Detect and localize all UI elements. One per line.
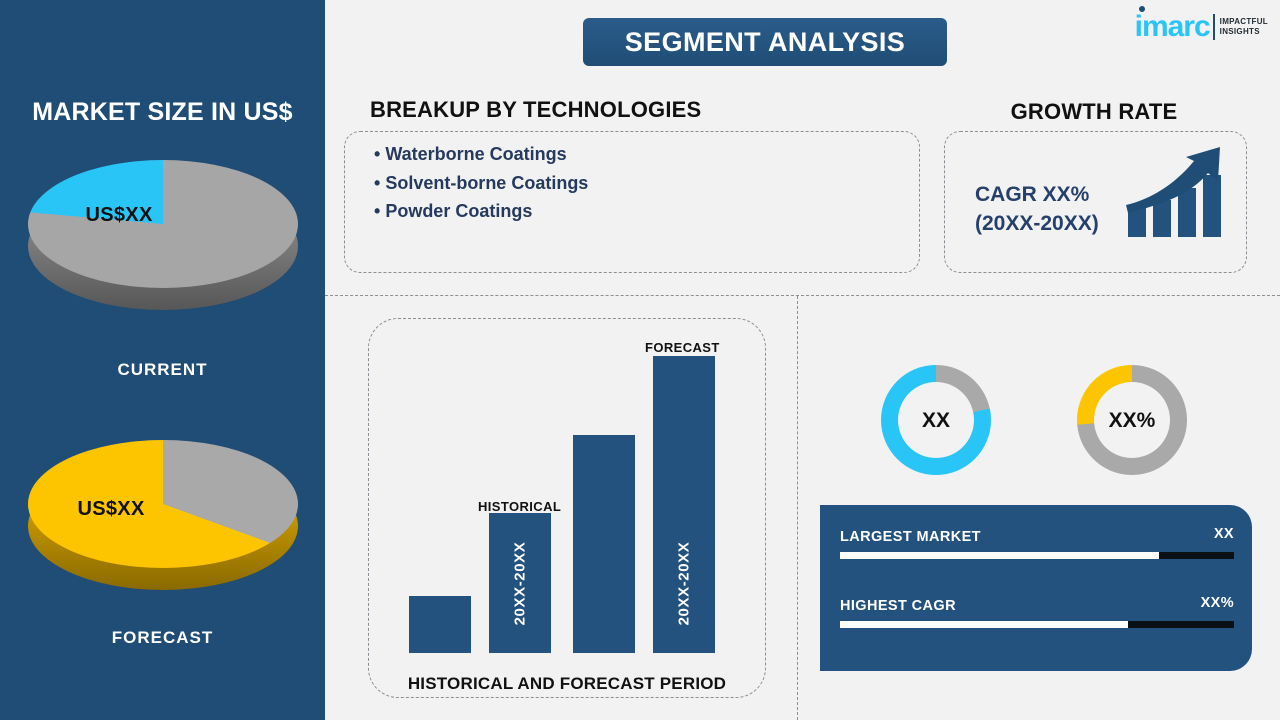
metric-track — [840, 621, 1234, 628]
sidebar-title: MARKET SIZE IN US$ — [0, 98, 325, 127]
logo-text: imarc — [1135, 12, 1210, 42]
donut-chart-2-label: XX% — [1077, 409, 1187, 433]
growth-rate-heading: GROWTH RATE — [944, 99, 1244, 125]
bullet-icon: • — [374, 173, 380, 193]
historical-annotation: HISTORICAL — [478, 499, 561, 514]
logo-tagline: IMPACTFUL INSIGHTS — [1220, 17, 1268, 37]
forecast-pie-caption: FORECAST — [0, 628, 325, 648]
metric-track — [840, 552, 1234, 559]
page-title-banner: SEGMENT ANALYSIS — [583, 18, 947, 66]
bar-4-inner-label: 20XX-20XX — [676, 541, 693, 625]
forecast-pie-stage: US$XX — [28, 440, 298, 590]
horizontal-divider — [325, 295, 1280, 296]
logo-dot-icon — [1139, 6, 1145, 12]
sidebar-panel: MARKET SIZE IN US$ US$XX CURRENT US$XX F… — [0, 0, 325, 720]
logo-separator-icon — [1213, 14, 1215, 40]
current-pie-caption: CURRENT — [0, 360, 325, 380]
logo-tagline-line1: IMPACTFUL — [1220, 17, 1268, 27]
metrics-panel: LARGEST MARKET XX HIGHEST CAGR XX% — [820, 505, 1252, 671]
metric-fill — [840, 552, 1159, 559]
technology-label: Powder Coatings — [385, 201, 532, 221]
bullet-icon: • — [374, 144, 380, 164]
growth-chart-arrow-icon — [1124, 143, 1234, 243]
bar-3 — [573, 435, 635, 653]
forecast-pie-value-label: US$XX — [78, 498, 145, 521]
logo-tagline-line2: INSIGHTS — [1220, 27, 1268, 37]
metric-label: HIGHEST CAGR — [840, 598, 956, 614]
technologies-heading: BREAKUP BY TECHNOLOGIES — [370, 97, 701, 123]
metric-label: LARGEST MARKET — [840, 529, 981, 545]
list-item: •Waterborne Coatings — [374, 140, 588, 169]
metric-fill — [840, 621, 1128, 628]
logo-wordmark: imarc — [1135, 12, 1210, 42]
technology-label: Waterborne Coatings — [385, 144, 566, 164]
bar-4-inner-label-holder: 20XX-20XX — [653, 523, 715, 643]
bar-1 — [409, 596, 471, 653]
metric-value: XX — [1214, 526, 1234, 542]
current-pie-value-label: US$XX — [86, 204, 153, 227]
forecast-pie-face — [28, 440, 298, 568]
current-pie-face — [28, 160, 298, 288]
bar-2-inner-label-holder: 20XX-20XX — [489, 523, 551, 643]
list-item: •Solvent-borne Coatings — [374, 169, 588, 198]
page-title: SEGMENT ANALYSIS — [625, 27, 905, 58]
bullet-icon: • — [374, 201, 380, 221]
technology-label: Solvent-borne Coatings — [385, 173, 588, 193]
forecast-annotation: FORECAST — [645, 340, 720, 355]
donut-chart-1-label: XX — [881, 409, 991, 433]
historical-forecast-bar-chart: 20XX-20XX 20XX-20XX HISTORICAL FORECAST — [368, 318, 766, 698]
current-pie-chart: US$XX — [0, 160, 325, 310]
bar-2: 20XX-20XX — [489, 513, 551, 653]
infographic-page: MARKET SIZE IN US$ US$XX CURRENT US$XX F… — [0, 0, 1280, 720]
current-pie-stage: US$XX — [28, 160, 298, 310]
technologies-list: •Waterborne Coatings •Solvent-borne Coat… — [374, 140, 588, 226]
bar-chart-caption: HISTORICAL AND FORECAST PERIOD — [368, 674, 766, 694]
cagr-text: CAGR XX% (20XX-20XX) — [975, 180, 1099, 238]
cagr-period: (20XX-20XX) — [975, 209, 1099, 238]
list-item: •Powder Coatings — [374, 197, 588, 226]
cagr-value: CAGR XX% — [975, 180, 1099, 209]
metric-value: XX% — [1201, 595, 1234, 611]
bar-2-inner-label: 20XX-20XX — [512, 541, 529, 625]
imarc-logo: imarc IMPACTFUL INSIGHTS — [1135, 12, 1268, 42]
vertical-divider — [797, 296, 798, 720]
bar-4: 20XX-20XX — [653, 356, 715, 653]
forecast-pie-chart: US$XX — [0, 440, 325, 590]
